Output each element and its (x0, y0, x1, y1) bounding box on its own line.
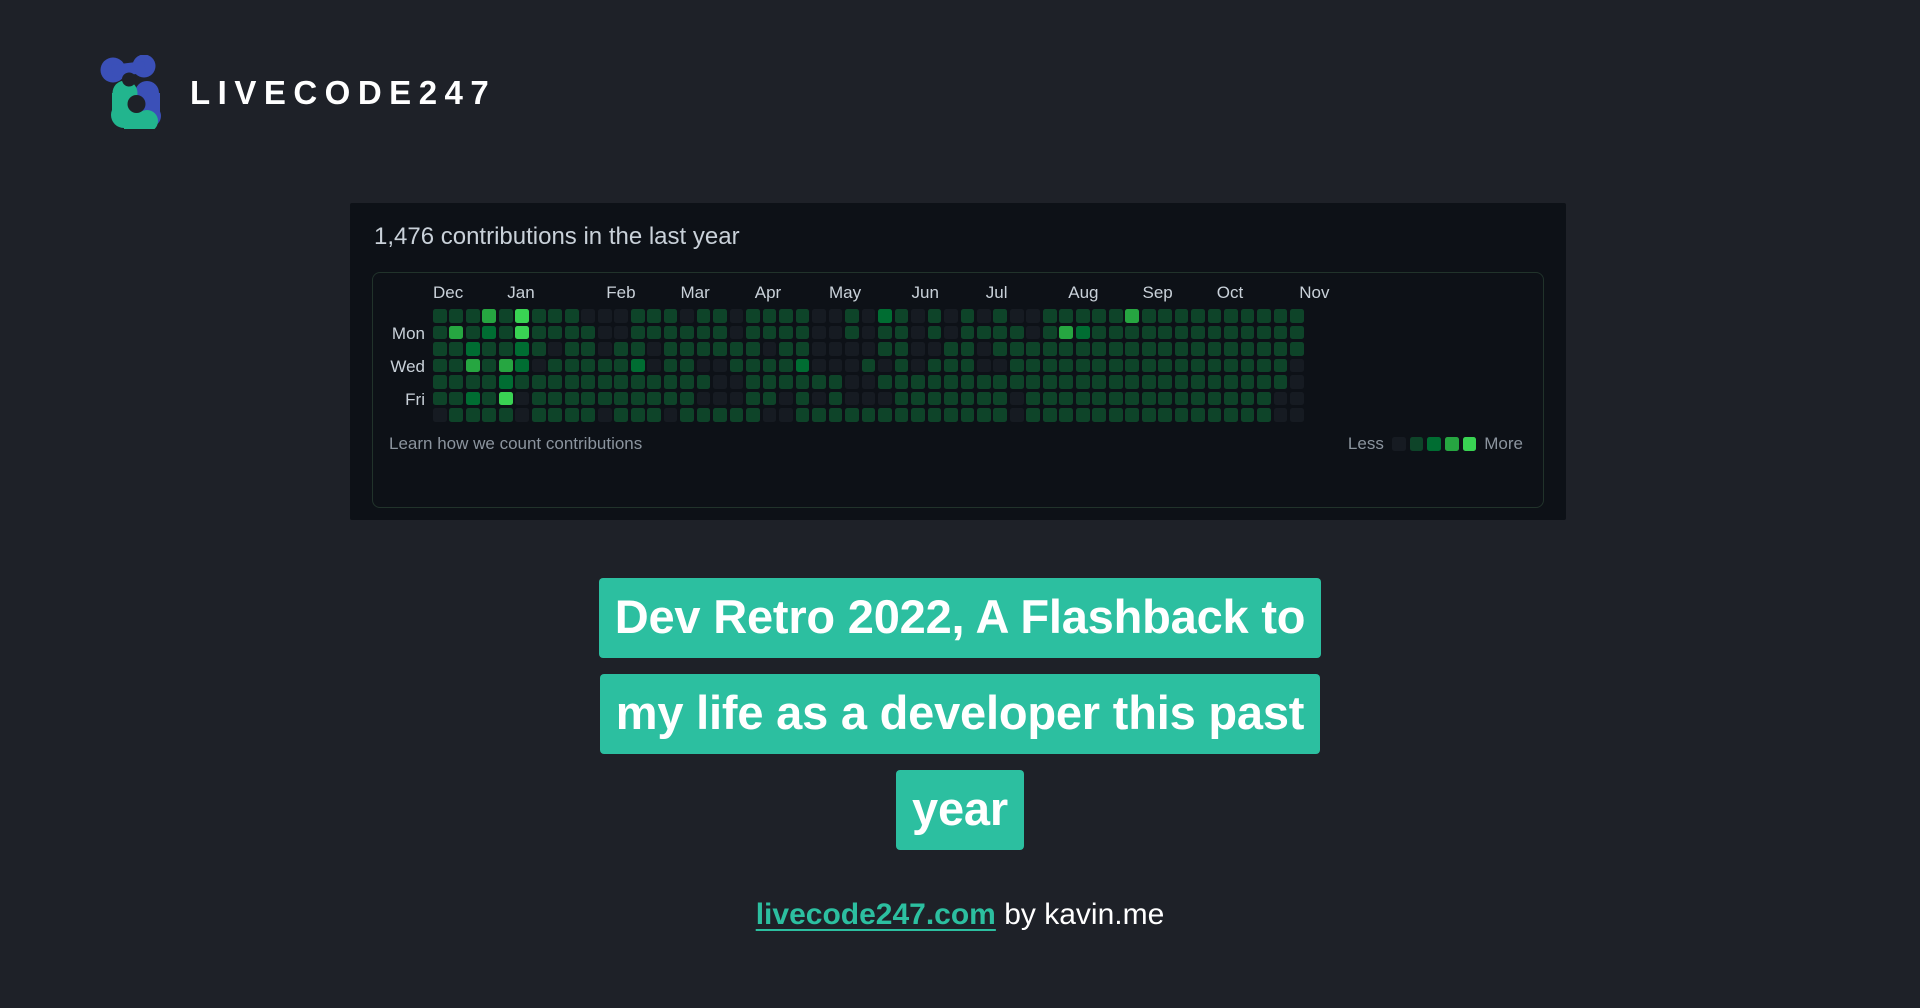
contribution-cell[interactable] (862, 342, 876, 356)
contribution-cell[interactable] (928, 408, 942, 422)
contribution-cell[interactable] (647, 342, 661, 356)
contribution-cell[interactable] (482, 326, 496, 340)
contribution-cell[interactable] (433, 375, 447, 389)
contribution-cell[interactable] (862, 359, 876, 373)
contribution-cell[interactable] (449, 375, 463, 389)
contribution-cell[interactable] (1191, 392, 1205, 406)
contribution-cell[interactable] (1290, 375, 1304, 389)
contribution-cell[interactable] (993, 326, 1007, 340)
contribution-cell[interactable] (581, 375, 595, 389)
contribution-cell[interactable] (977, 309, 991, 323)
contribution-cell[interactable] (1026, 359, 1040, 373)
contribution-cell[interactable] (1208, 342, 1222, 356)
contribution-cell[interactable] (664, 392, 678, 406)
contribution-cell[interactable] (631, 392, 645, 406)
contribution-cell[interactable] (829, 342, 843, 356)
contribution-cell[interactable] (961, 309, 975, 323)
contribution-cell[interactable] (862, 309, 876, 323)
contribution-cell[interactable] (977, 359, 991, 373)
contribution-cell[interactable] (614, 375, 628, 389)
contribution-cell[interactable] (895, 375, 909, 389)
contribution-cell[interactable] (1043, 309, 1057, 323)
contribution-cell[interactable] (581, 408, 595, 422)
contribution-cell[interactable] (1158, 342, 1172, 356)
contribution-cell[interactable] (1010, 359, 1024, 373)
contribution-cell[interactable] (1109, 392, 1123, 406)
contribution-cell[interactable] (1142, 392, 1156, 406)
contribution-cell[interactable] (1175, 326, 1189, 340)
contribution-cell[interactable] (680, 375, 694, 389)
contribution-cell[interactable] (631, 375, 645, 389)
contribution-cell[interactable] (895, 392, 909, 406)
contribution-cell[interactable] (961, 375, 975, 389)
contribution-cell[interactable] (1191, 326, 1205, 340)
contribution-cell[interactable] (581, 359, 595, 373)
contribution-cell[interactable] (1175, 359, 1189, 373)
site-link[interactable]: livecode247.com (756, 898, 996, 931)
contribution-cell[interactable] (433, 326, 447, 340)
contribution-cell[interactable] (565, 392, 579, 406)
contribution-cell[interactable] (944, 326, 958, 340)
contribution-cell[interactable] (977, 408, 991, 422)
contribution-cell[interactable] (1092, 359, 1106, 373)
contribution-cell[interactable] (1026, 408, 1040, 422)
contribution-cell[interactable] (1125, 375, 1139, 389)
contribution-cell[interactable] (730, 326, 744, 340)
contribution-cell[interactable] (1208, 326, 1222, 340)
contribution-cell[interactable] (631, 309, 645, 323)
contribution-cell[interactable] (713, 392, 727, 406)
contribution-cell[interactable] (697, 392, 711, 406)
contribution-cell[interactable] (598, 375, 612, 389)
contribution-cell[interactable] (482, 392, 496, 406)
contribution-cell[interactable] (1191, 342, 1205, 356)
contribution-cell[interactable] (746, 342, 760, 356)
contribution-cell[interactable] (1092, 309, 1106, 323)
contribution-cell[interactable] (1241, 375, 1255, 389)
contribution-cell[interactable] (515, 375, 529, 389)
contribution-cell[interactable] (697, 375, 711, 389)
contribution-cell[interactable] (746, 408, 760, 422)
contribution-cell[interactable] (1224, 342, 1238, 356)
contribution-cell[interactable] (466, 326, 480, 340)
contribution-cell[interactable] (977, 326, 991, 340)
contribution-cell[interactable] (1175, 408, 1189, 422)
contribution-cell[interactable] (565, 359, 579, 373)
contribution-cell[interactable] (598, 342, 612, 356)
contribution-cell[interactable] (779, 392, 793, 406)
contribution-cell[interactable] (928, 326, 942, 340)
contribution-cell[interactable] (763, 392, 777, 406)
contribution-cell[interactable] (1158, 392, 1172, 406)
contribution-cell[interactable] (647, 375, 661, 389)
contribution-cell[interactable] (779, 359, 793, 373)
contribution-cell[interactable] (713, 375, 727, 389)
contribution-cell[interactable] (928, 359, 942, 373)
contribution-cell[interactable] (1142, 359, 1156, 373)
contribution-cell[interactable] (482, 359, 496, 373)
contribution-cell[interactable] (466, 342, 480, 356)
contribution-cell[interactable] (961, 392, 975, 406)
contribution-cell[interactable] (433, 392, 447, 406)
contribution-cell[interactable] (812, 408, 826, 422)
contribution-cell[interactable] (845, 408, 859, 422)
contribution-cell[interactable] (1142, 408, 1156, 422)
contribution-cell[interactable] (1010, 408, 1024, 422)
contribution-cell[interactable] (862, 392, 876, 406)
contribution-cell[interactable] (1076, 375, 1090, 389)
contribution-cell[interactable] (1076, 359, 1090, 373)
contribution-cell[interactable] (796, 342, 810, 356)
contribution-cell[interactable] (1059, 359, 1073, 373)
contribution-cell[interactable] (730, 342, 744, 356)
contribution-cell[interactable] (532, 408, 546, 422)
contribution-cell[interactable] (1125, 408, 1139, 422)
contribution-cell[interactable] (1191, 408, 1205, 422)
contribution-cell[interactable] (1175, 342, 1189, 356)
contribution-cell[interactable] (862, 375, 876, 389)
contribution-cell[interactable] (1076, 326, 1090, 340)
contribution-cell[interactable] (647, 359, 661, 373)
contribution-cell[interactable] (515, 408, 529, 422)
contribution-cell[interactable] (862, 408, 876, 422)
contribution-cell[interactable] (1241, 326, 1255, 340)
contribution-cell[interactable] (829, 326, 843, 340)
contribution-cell[interactable] (532, 392, 546, 406)
contribution-cell[interactable] (680, 309, 694, 323)
contribution-cell[interactable] (482, 309, 496, 323)
contribution-cell[interactable] (1208, 309, 1222, 323)
contribution-cell[interactable] (895, 309, 909, 323)
contribution-cell[interactable] (763, 326, 777, 340)
contribution-cell[interactable] (944, 342, 958, 356)
contribution-cell[interactable] (697, 342, 711, 356)
contribution-cell[interactable] (1224, 408, 1238, 422)
contribution-cell[interactable] (1092, 375, 1106, 389)
contribution-cell[interactable] (1257, 375, 1271, 389)
contribution-cell[interactable] (1241, 342, 1255, 356)
contribution-cell[interactable] (944, 408, 958, 422)
contribution-cell[interactable] (961, 359, 975, 373)
contribution-cell[interactable] (845, 375, 859, 389)
contribution-cell[interactable] (1059, 392, 1073, 406)
contribution-cell[interactable] (680, 359, 694, 373)
contribution-cell[interactable] (1274, 309, 1288, 323)
contribution-cell[interactable] (1109, 309, 1123, 323)
contribution-cell[interactable] (1241, 309, 1255, 323)
contribution-cell[interactable] (1257, 408, 1271, 422)
contribution-cell[interactable] (680, 326, 694, 340)
contribution-cell[interactable] (1076, 309, 1090, 323)
contribution-cell[interactable] (1208, 392, 1222, 406)
contribution-cell[interactable] (993, 375, 1007, 389)
contribution-cell[interactable] (1142, 375, 1156, 389)
contribution-cell[interactable] (1208, 359, 1222, 373)
contribution-cell[interactable] (1224, 375, 1238, 389)
contribution-cell[interactable] (829, 359, 843, 373)
contribution-cell[interactable] (878, 359, 892, 373)
contribution-cell[interactable] (449, 326, 463, 340)
contribution-cell[interactable] (829, 375, 843, 389)
contribution-cell[interactable] (878, 392, 892, 406)
contribution-cell[interactable] (1290, 342, 1304, 356)
contribution-cell[interactable] (779, 408, 793, 422)
contribution-cell[interactable] (779, 326, 793, 340)
contribution-cell[interactable] (977, 342, 991, 356)
contribution-cell[interactable] (928, 342, 942, 356)
contribution-cell[interactable] (1208, 408, 1222, 422)
contribution-cell[interactable] (664, 309, 678, 323)
contribution-cell[interactable] (993, 408, 1007, 422)
contribution-cell[interactable] (433, 408, 447, 422)
contribution-cell[interactable] (878, 342, 892, 356)
contribution-cell[interactable] (993, 392, 1007, 406)
contribution-cell[interactable] (1026, 392, 1040, 406)
contribution-cell[interactable] (449, 342, 463, 356)
contribution-cell[interactable] (878, 309, 892, 323)
contribution-cell[interactable] (1208, 375, 1222, 389)
contribution-cell[interactable] (680, 408, 694, 422)
contribution-cell[interactable] (796, 392, 810, 406)
contribution-cell[interactable] (548, 309, 562, 323)
contribution-cell[interactable] (1257, 309, 1271, 323)
contribution-cell[interactable] (1274, 359, 1288, 373)
contribution-cell[interactable] (1076, 408, 1090, 422)
contribution-cell[interactable] (449, 392, 463, 406)
contribution-cell[interactable] (1092, 326, 1106, 340)
contribution-cell[interactable] (697, 309, 711, 323)
contribution-cell[interactable] (647, 392, 661, 406)
contribution-cell[interactable] (1125, 309, 1139, 323)
contribution-cell[interactable] (1142, 342, 1156, 356)
contribution-cell[interactable] (977, 375, 991, 389)
contribution-cell[interactable] (614, 359, 628, 373)
contribution-cell[interactable] (499, 326, 513, 340)
contribution-cell[interactable] (1142, 326, 1156, 340)
contribution-cell[interactable] (746, 309, 760, 323)
contribution-cell[interactable] (532, 342, 546, 356)
contribution-cell[interactable] (1257, 326, 1271, 340)
contribution-cell[interactable] (433, 309, 447, 323)
contribution-cell[interactable] (763, 342, 777, 356)
contribution-cell[interactable] (1092, 392, 1106, 406)
contribution-cell[interactable] (895, 326, 909, 340)
contribution-cell[interactable] (532, 359, 546, 373)
contribution-cell[interactable] (1109, 408, 1123, 422)
contribution-cell[interactable] (548, 375, 562, 389)
contribution-cell[interactable] (1224, 392, 1238, 406)
contribution-cell[interactable] (1109, 342, 1123, 356)
contribution-cell[interactable] (730, 309, 744, 323)
contribution-cell[interactable] (1274, 392, 1288, 406)
contribution-cell[interactable] (664, 342, 678, 356)
contribution-cell[interactable] (746, 326, 760, 340)
contribution-cell[interactable] (664, 359, 678, 373)
contribution-cell[interactable] (515, 326, 529, 340)
contribution-cell[interactable] (1158, 359, 1172, 373)
contribution-cell[interactable] (1274, 326, 1288, 340)
contribution-cell[interactable] (680, 392, 694, 406)
contribution-cell[interactable] (862, 326, 876, 340)
contribution-cell[interactable] (928, 309, 942, 323)
contribution-grid[interactable] (433, 309, 1304, 425)
contribution-cell[interactable] (1257, 392, 1271, 406)
contribution-cell[interactable] (697, 359, 711, 373)
contribution-cell[interactable] (1026, 375, 1040, 389)
contribution-cell[interactable] (829, 309, 843, 323)
contribution-cell[interactable] (1142, 309, 1156, 323)
contribution-cell[interactable] (598, 359, 612, 373)
contribution-cell[interactable] (565, 375, 579, 389)
contribution-cell[interactable] (532, 326, 546, 340)
contribution-cell[interactable] (1175, 375, 1189, 389)
contribution-cell[interactable] (779, 309, 793, 323)
contribution-cell[interactable] (449, 309, 463, 323)
contribution-cell[interactable] (1290, 408, 1304, 422)
contribution-cell[interactable] (565, 309, 579, 323)
contribution-cell[interactable] (598, 326, 612, 340)
contribution-cell[interactable] (449, 408, 463, 422)
contribution-cell[interactable] (1224, 326, 1238, 340)
contribution-cell[interactable] (1257, 359, 1271, 373)
contribution-cell[interactable] (581, 326, 595, 340)
contribution-cell[interactable] (1290, 309, 1304, 323)
contribution-cell[interactable] (548, 392, 562, 406)
contribution-cell[interactable] (961, 342, 975, 356)
contribution-cell[interactable] (1125, 359, 1139, 373)
contribution-cell[interactable] (1191, 309, 1205, 323)
contribution-cell[interactable] (796, 309, 810, 323)
contribution-cell[interactable] (598, 392, 612, 406)
contribution-cell[interactable] (631, 326, 645, 340)
contribution-cell[interactable] (1274, 375, 1288, 389)
contribution-cell[interactable] (1241, 392, 1255, 406)
contribution-cell[interactable] (911, 392, 925, 406)
contribution-cell[interactable] (697, 326, 711, 340)
contribution-cell[interactable] (548, 342, 562, 356)
contribution-cell[interactable] (631, 408, 645, 422)
contribution-cell[interactable] (1290, 392, 1304, 406)
contribution-cell[interactable] (845, 359, 859, 373)
contribution-cell[interactable] (614, 392, 628, 406)
contribution-cell[interactable] (763, 375, 777, 389)
contribution-cell[interactable] (581, 392, 595, 406)
contribution-cell[interactable] (614, 342, 628, 356)
contribution-cell[interactable] (466, 408, 480, 422)
contribution-cell[interactable] (1191, 359, 1205, 373)
contribution-cell[interactable] (664, 375, 678, 389)
contribution-cell[interactable] (796, 359, 810, 373)
contribution-cell[interactable] (1043, 408, 1057, 422)
contribution-cell[interactable] (499, 375, 513, 389)
contribution-cell[interactable] (1257, 342, 1271, 356)
contribution-cell[interactable] (482, 408, 496, 422)
contribution-cell[interactable] (532, 309, 546, 323)
contribution-cell[interactable] (598, 309, 612, 323)
contribution-cell[interactable] (944, 375, 958, 389)
contribution-cell[interactable] (1125, 326, 1139, 340)
brand-logo[interactable]: LIVECODE247 (100, 55, 496, 129)
contribution-cell[interactable] (532, 375, 546, 389)
contribution-cell[interactable] (779, 342, 793, 356)
contribution-cell[interactable] (878, 326, 892, 340)
contribution-cell[interactable] (1241, 359, 1255, 373)
contribution-cell[interactable] (730, 375, 744, 389)
contribution-cell[interactable] (664, 408, 678, 422)
contribution-cell[interactable] (499, 408, 513, 422)
contribution-cell[interactable] (499, 342, 513, 356)
contribution-cell[interactable] (944, 359, 958, 373)
contribution-cell[interactable] (812, 359, 826, 373)
contribution-cell[interactable] (961, 408, 975, 422)
contribution-cell[interactable] (1191, 375, 1205, 389)
contribution-cell[interactable] (895, 342, 909, 356)
contribution-cell[interactable] (993, 309, 1007, 323)
contribution-cell[interactable] (515, 309, 529, 323)
contribution-cell[interactable] (796, 326, 810, 340)
contribution-cell[interactable] (895, 408, 909, 422)
contribution-cell[interactable] (1059, 326, 1073, 340)
contribution-cell[interactable] (928, 392, 942, 406)
contribution-cell[interactable] (730, 408, 744, 422)
contribution-cell[interactable] (1059, 408, 1073, 422)
contribution-cell[interactable] (845, 309, 859, 323)
contribution-cell[interactable] (1010, 326, 1024, 340)
contribution-cell[interactable] (812, 392, 826, 406)
contribution-cell[interactable] (482, 375, 496, 389)
contribution-cell[interactable] (515, 359, 529, 373)
contribution-cell[interactable] (697, 408, 711, 422)
contribution-cell[interactable] (763, 309, 777, 323)
contribution-cell[interactable] (581, 309, 595, 323)
contribution-cell[interactable] (1109, 375, 1123, 389)
contribution-cell[interactable] (515, 392, 529, 406)
contribution-cell[interactable] (845, 326, 859, 340)
contribution-cell[interactable] (1175, 392, 1189, 406)
contribution-cell[interactable] (796, 375, 810, 389)
contribution-cell[interactable] (1274, 342, 1288, 356)
contribution-cell[interactable] (796, 408, 810, 422)
contribution-cell[interactable] (1158, 375, 1172, 389)
contribution-cell[interactable] (1059, 309, 1073, 323)
contribution-cell[interactable] (829, 392, 843, 406)
contribution-cell[interactable] (1158, 408, 1172, 422)
contribution-cell[interactable] (565, 326, 579, 340)
contribution-cell[interactable] (944, 392, 958, 406)
contribution-cell[interactable] (466, 359, 480, 373)
contribution-cell[interactable] (911, 326, 925, 340)
contribution-cell[interactable] (1109, 326, 1123, 340)
contribution-cell[interactable] (1125, 392, 1139, 406)
contribution-cell[interactable] (1010, 309, 1024, 323)
contribution-cell[interactable] (433, 342, 447, 356)
contribution-cell[interactable] (614, 408, 628, 422)
contribution-cell[interactable] (1290, 326, 1304, 340)
contribution-cell[interactable] (845, 342, 859, 356)
contribution-cell[interactable] (928, 375, 942, 389)
contribution-cell[interactable] (730, 359, 744, 373)
contribution-cell[interactable] (680, 342, 694, 356)
contribution-cell[interactable] (713, 408, 727, 422)
learn-how-we-count-link[interactable]: Learn how we count contributions (389, 434, 642, 454)
contribution-cell[interactable] (1125, 342, 1139, 356)
contribution-cell[interactable] (565, 342, 579, 356)
contribution-cell[interactable] (1059, 375, 1073, 389)
contribution-cell[interactable] (993, 342, 1007, 356)
contribution-cell[interactable] (548, 359, 562, 373)
contribution-cell[interactable] (1158, 326, 1172, 340)
contribution-cell[interactable] (499, 392, 513, 406)
